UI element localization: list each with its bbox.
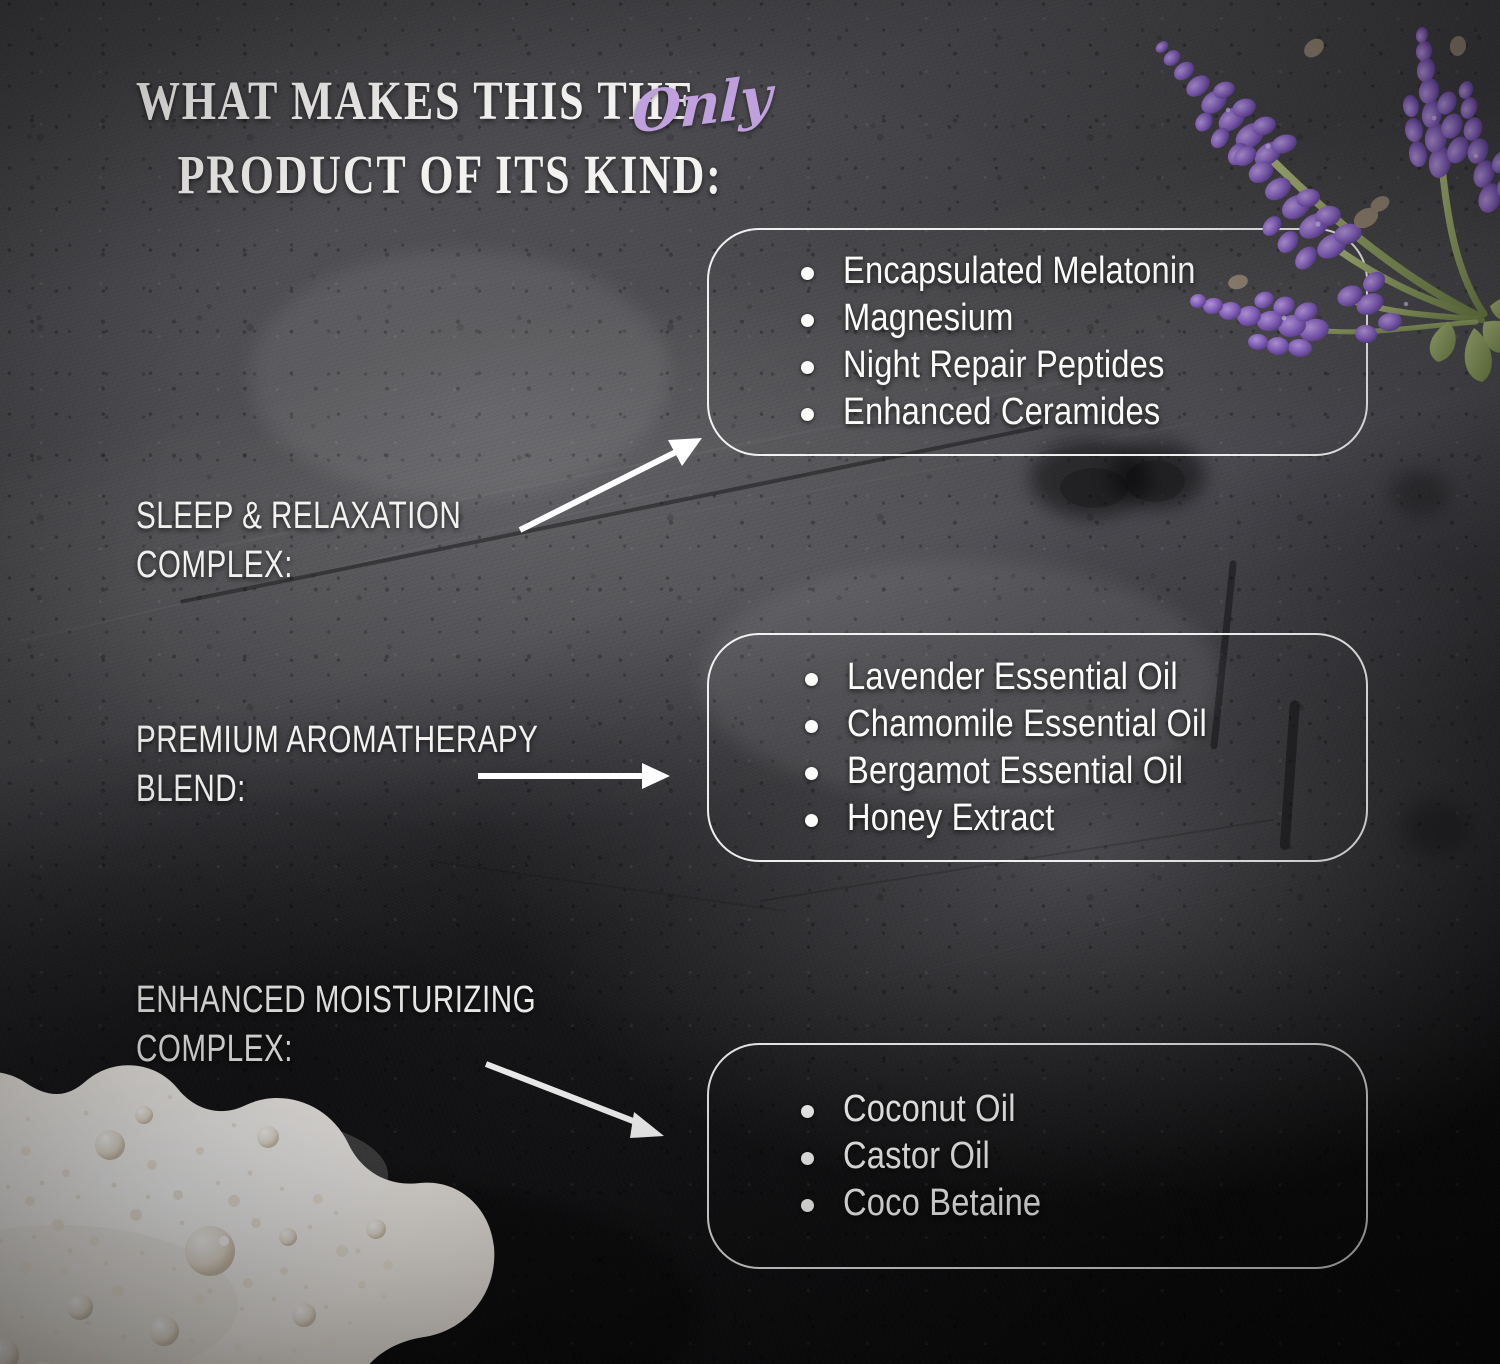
vignette-overlay	[0, 0, 1500, 1364]
infographic-canvas: What Makes This The Product Of Its Kind:…	[0, 0, 1500, 1364]
